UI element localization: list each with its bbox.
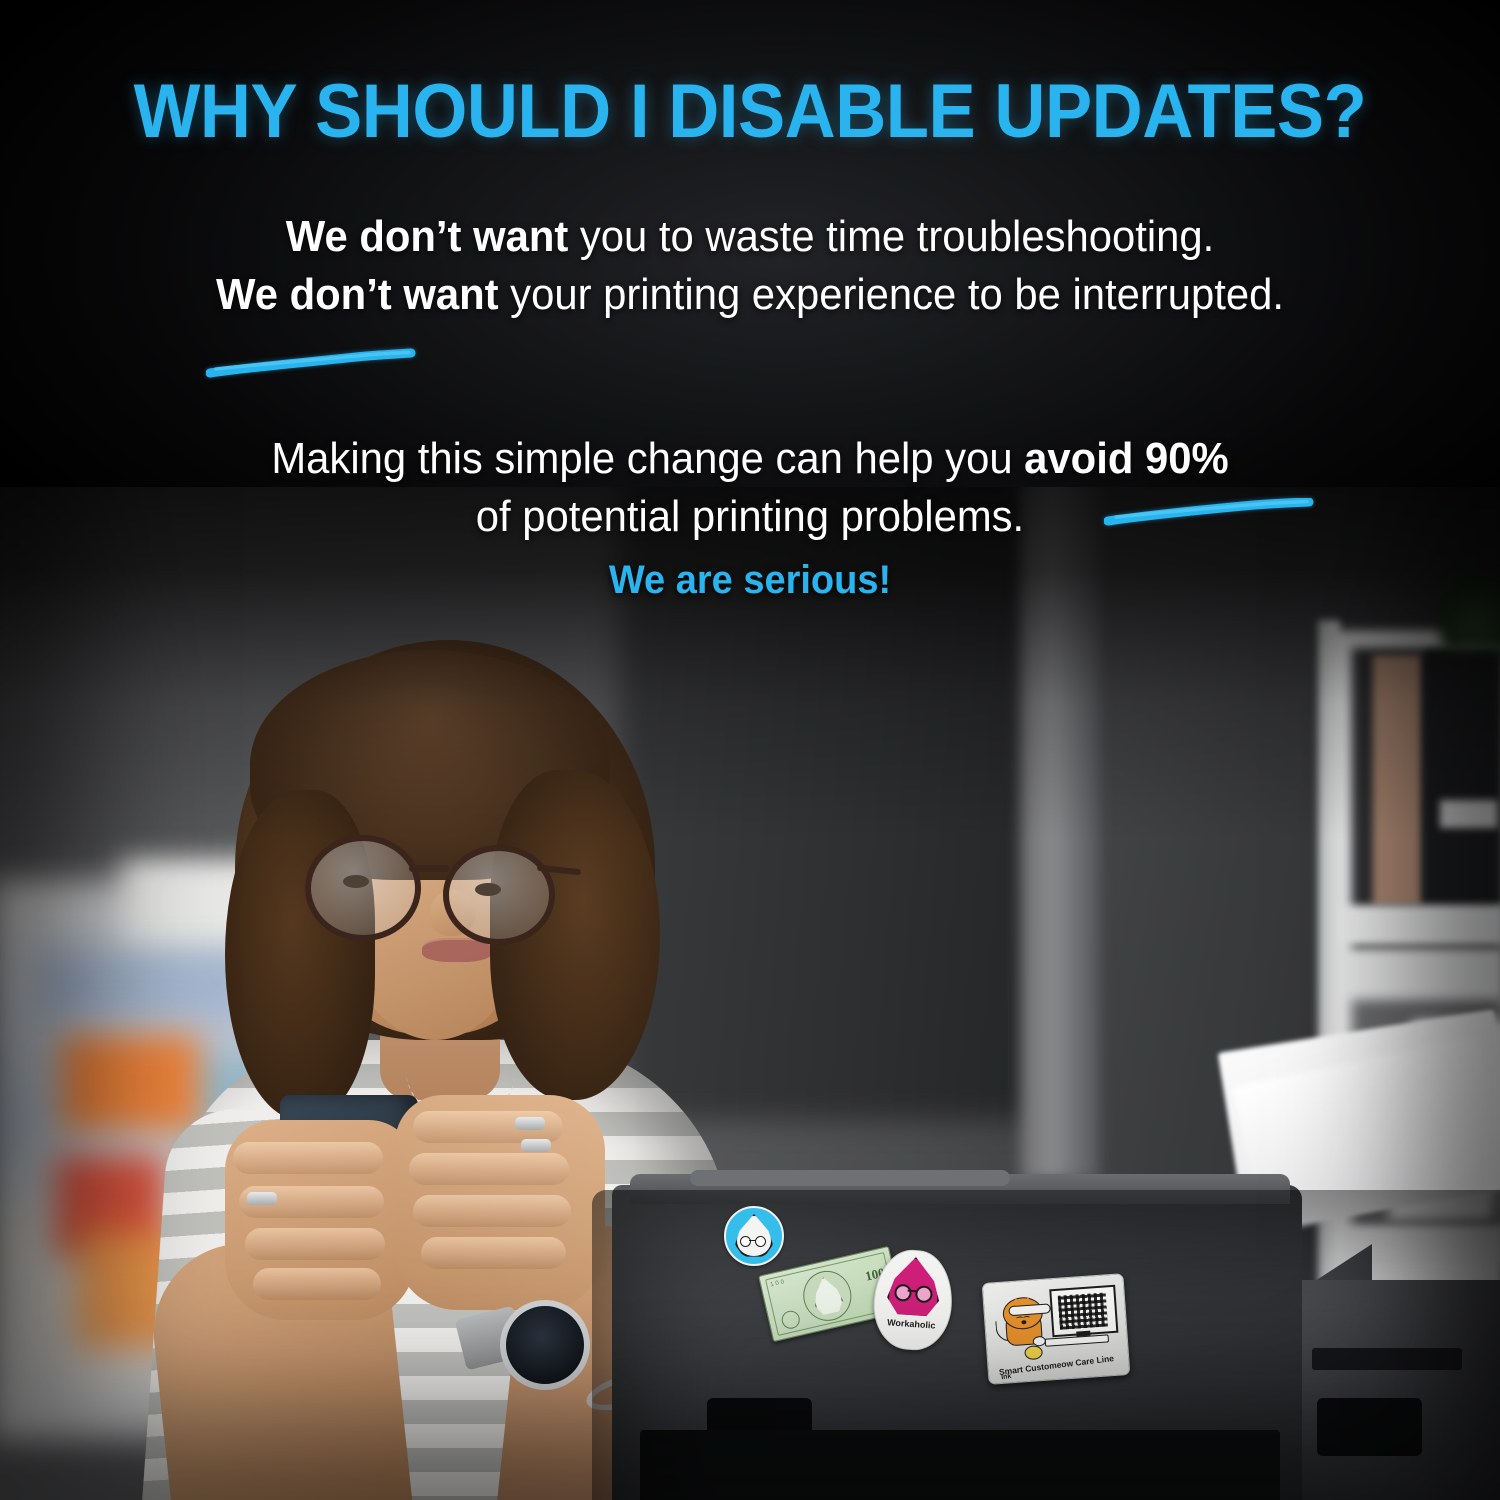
care-line-card-sticker: Smart Customeow Care Line Ink [982,1273,1131,1385]
body-copy-block-2: Making this simple change can help you a… [0,430,1500,546]
finger [245,1228,385,1260]
lens-right [443,845,555,945]
eye-left [343,875,369,888]
printer-paper-slot [1312,1348,1462,1370]
qr-code-icon [1058,1292,1108,1329]
ring [247,1192,277,1205]
hand-left [225,1120,415,1320]
binder-tan [1373,655,1421,905]
card-subtitle: Ink [1001,1373,1012,1381]
ring [515,1117,545,1130]
body-line-1-rest: you to waste time troubleshooting. [568,212,1214,261]
glasses-icon [740,1236,766,1245]
cat-belly [1024,1345,1043,1360]
eye-right [475,883,501,896]
body-line-2-rest: your printing experience to be interrupt… [499,270,1284,319]
printer-front-lip-right [1317,1398,1422,1456]
sticker-label: Workaholic [887,1317,936,1330]
body-line-1: We don’t want you to waste time troubles… [38,208,1463,266]
page-title: WHY SHOULD I DISABLE UPDATES? [53,68,1448,155]
hand-right [395,1095,605,1310]
body-line-4: of potential printing problems. [38,488,1463,546]
emphasis-text: avoid 90% [1024,434,1228,483]
wristwatch [500,1300,590,1390]
printer-front-panel [640,1430,1280,1500]
body-line-2: We don’t want your printing experience t… [38,266,1463,324]
printer: 100 100 Workaholic [612,1130,1500,1500]
body-line-3-start: Making this simple change can help you [271,434,1024,483]
lips [422,940,492,962]
emphasis-text: We don’t want [216,270,499,319]
shelf-divider-upper [1335,905,1500,945]
body-copy-block-1: We don’t want you to waste time troubles… [0,208,1500,324]
eyeglasses-icon [305,835,575,925]
cat-headset-band [1008,1303,1051,1316]
finger [421,1237,566,1269]
pink-ink-drop-icon [886,1255,942,1318]
monitor-frame [1049,1285,1118,1337]
glasses-bridge [409,865,449,872]
tagline: We are serious! [38,558,1463,603]
emphasis-text: We don’t want [286,212,569,261]
binder-label [1440,800,1498,828]
finger [253,1268,381,1300]
monitor-icon [1049,1285,1114,1341]
finger [409,1153,569,1185]
lens-left [305,835,421,941]
finger [413,1195,571,1227]
binder-black [1425,650,1500,905]
finger [233,1142,383,1174]
cat-nose [1021,1320,1026,1324]
ink-drop-badge-sticker [724,1206,784,1266]
promo-banner: 100 100 Workaholic [0,0,1500,1500]
ink-drop-icon [735,1214,773,1258]
printer-lid-handle [690,1170,1010,1186]
body-line-3: Making this simple change can help you a… [38,430,1463,488]
card-title: Smart Customeow Care Line [998,1353,1114,1377]
mouse-icon [1032,1336,1046,1347]
glasses-icon [894,1284,933,1300]
ring [521,1139,551,1152]
